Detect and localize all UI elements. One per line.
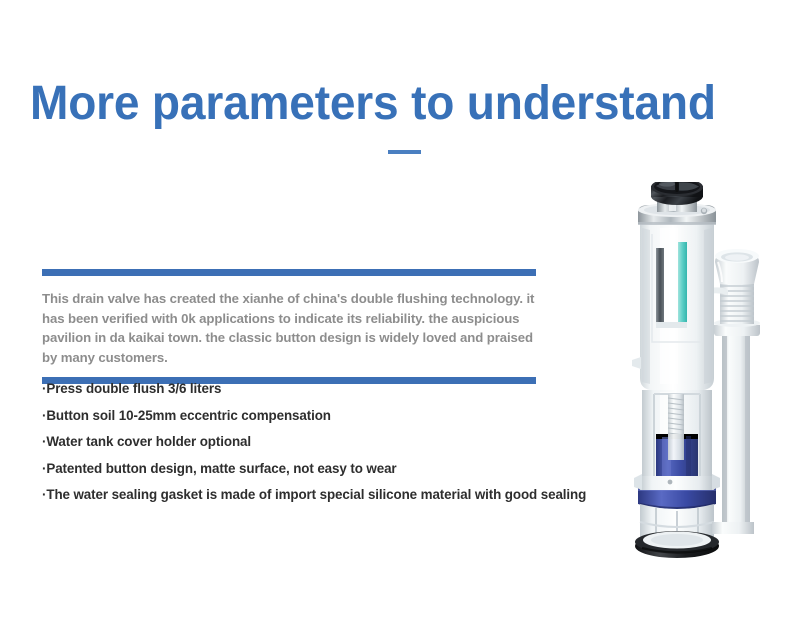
gray-strip — [656, 248, 664, 326]
list-item: ·Patented button design, matte surface, … — [42, 461, 582, 477]
body-vent-hole — [668, 480, 673, 485]
description-top-rule — [42, 269, 536, 276]
feature-label: Button soil 10-25mm eccentric compensati… — [46, 408, 331, 423]
standpipe-foot — [712, 522, 754, 534]
blue-ring-band — [638, 488, 716, 509]
list-item: ·Press double flush 3/6 liters — [42, 381, 582, 397]
description-text: This drain valve has created the xianhe … — [42, 289, 536, 367]
strip-base — [656, 322, 687, 328]
left-tab — [632, 357, 641, 369]
list-item: ·Button soil 10-25mm eccentric compensat… — [42, 408, 582, 424]
list-item: ·Water tank cover holder optional — [42, 434, 582, 450]
list-item: ·The water sealing gasket is made of imp… — [42, 487, 582, 503]
feature-list: ·Press double flush 3/6 liters ·Button s… — [42, 381, 582, 514]
title-accent-underline — [388, 150, 421, 154]
upper-band — [640, 476, 714, 490]
feature-label: Press double flush 3/6 liters — [46, 381, 221, 396]
sealing-gasket — [635, 531, 719, 558]
push-button[interactable] — [651, 182, 703, 205]
feature-label: Water tank cover holder optional — [46, 434, 251, 449]
product-image-drain-valve — [612, 182, 798, 574]
feature-label: The water sealing gasket is made of impo… — [46, 487, 586, 502]
feature-label: Patented button design, matte surface, n… — [46, 461, 396, 476]
upper-cylinder — [640, 224, 714, 390]
side-standpipe — [722, 332, 750, 528]
description-block: This drain valve has created the xianhe … — [42, 269, 536, 384]
overflow-funnel — [715, 249, 759, 284]
teal-strip — [678, 242, 687, 326]
right-clip — [712, 474, 720, 490]
slide-page: More parameters to understand This drain… — [0, 0, 800, 624]
page-title: More parameters to understand — [30, 78, 745, 130]
left-clip — [634, 474, 642, 490]
